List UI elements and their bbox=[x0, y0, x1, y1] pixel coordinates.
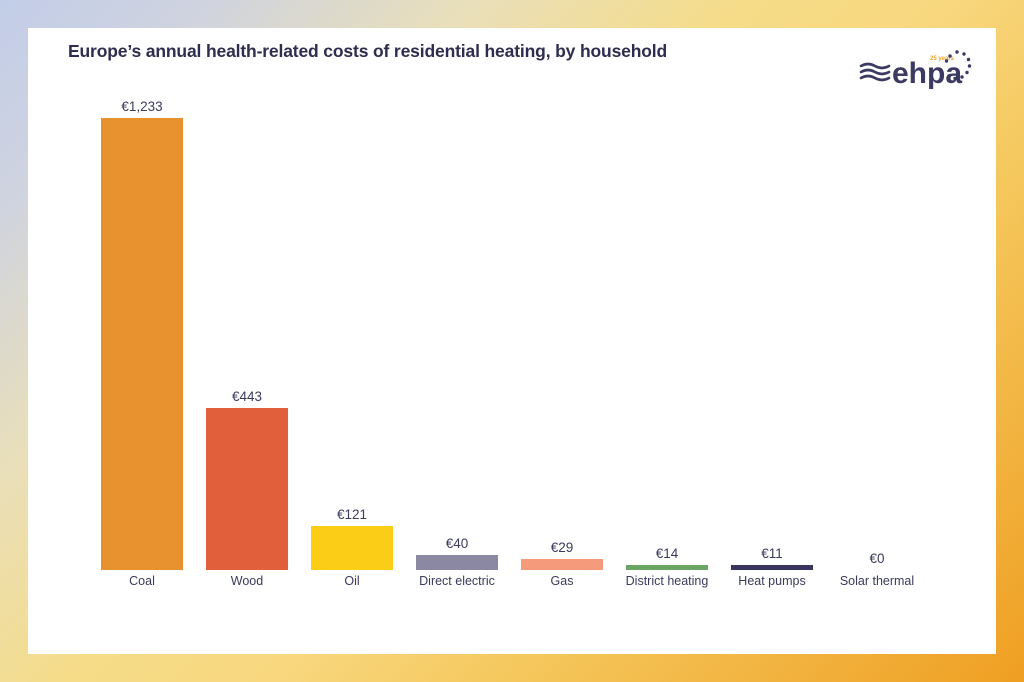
bar-group: €443 bbox=[195, 390, 299, 570]
bar-value-label: €121 bbox=[337, 508, 367, 523]
bar-value-label: €40 bbox=[446, 537, 469, 552]
bar-group: €11 bbox=[720, 547, 824, 570]
bar-group: €40 bbox=[405, 537, 509, 570]
bar-rect[interactable] bbox=[521, 559, 603, 570]
bar-value-label: €11 bbox=[761, 547, 783, 562]
bar-value-label: €443 bbox=[232, 390, 262, 405]
bar-rect[interactable] bbox=[101, 118, 183, 570]
bar-value-label: €1,233 bbox=[121, 100, 162, 115]
bar-group: €1,233 bbox=[90, 100, 194, 570]
bar-rect[interactable] bbox=[311, 526, 393, 570]
bar-value-label: €0 bbox=[869, 552, 884, 567]
bar-value-label: €14 bbox=[656, 547, 679, 562]
bar-rect[interactable] bbox=[416, 555, 498, 570]
bar-group: €0 bbox=[825, 552, 929, 570]
bar-group: €29 bbox=[510, 541, 614, 570]
chart-card: Europe’s annual health-related costs of … bbox=[28, 28, 996, 654]
bar-rect[interactable] bbox=[626, 565, 708, 570]
poster-frame: Europe’s annual health-related costs of … bbox=[0, 0, 1024, 682]
bar-category-label: Solar thermal bbox=[807, 574, 947, 588]
bar-chart-plot: €1,233Coal€443Wood€121Oil€40Direct elect… bbox=[28, 28, 996, 654]
bar-rect[interactable] bbox=[731, 565, 813, 570]
bar-group: €14 bbox=[615, 547, 719, 570]
bar-value-label: €29 bbox=[551, 541, 574, 556]
bar-group: €121 bbox=[300, 508, 404, 570]
bar-rect[interactable] bbox=[206, 408, 288, 570]
